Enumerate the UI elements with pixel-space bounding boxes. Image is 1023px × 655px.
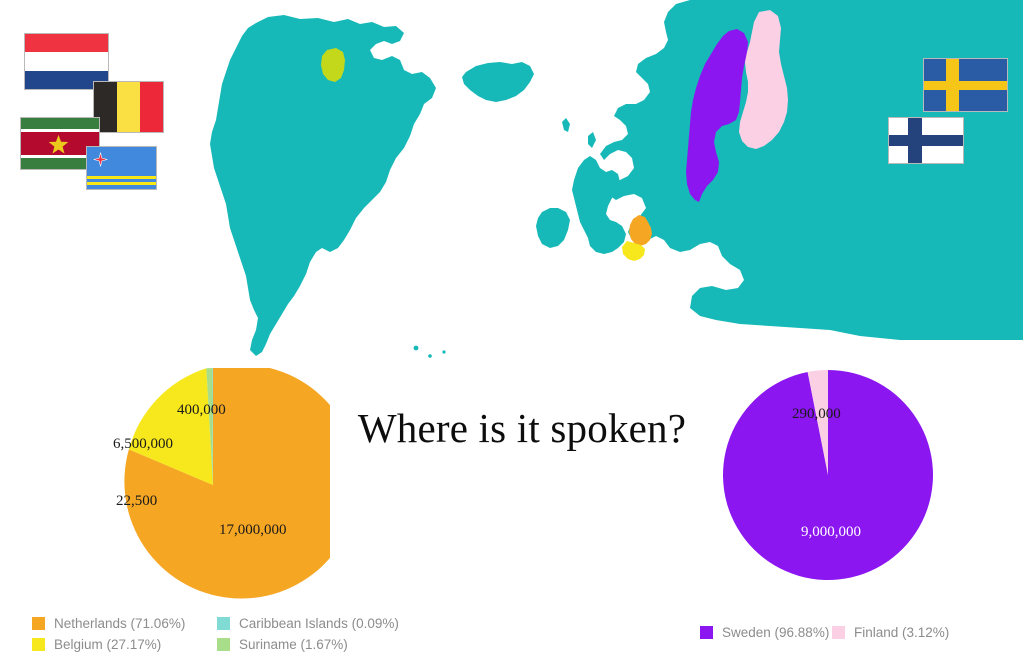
flag-belgium-red-band — [140, 82, 163, 132]
scandinavia-europe-shape — [600, 0, 1023, 340]
swedish-pie-slice-sweden — [723, 370, 933, 580]
flag-finland-blue-horizontal — [889, 135, 963, 146]
iceland-shape — [462, 62, 534, 102]
caribbean-island-dot-2 — [428, 354, 432, 358]
flag-netherlands-red-band — [25, 34, 108, 52]
legend-swatch-sweden-icon — [700, 626, 713, 639]
swedish-legend-row-1: Sweden (96.88%) Finland (3.12%) — [700, 622, 949, 643]
legend-swatch-finland-icon — [832, 626, 845, 639]
legend-swatch-netherlands-icon — [32, 617, 45, 630]
flag-sweden-yellow-vertical — [946, 59, 958, 111]
slide-canvas: Where is it spoken? 400,000 6,500,000 22… — [0, 0, 1023, 655]
dutch-legend-item-caribbean[interactable]: Caribbean Islands (0.09%) — [217, 616, 399, 631]
swedish-legend-label-finland: Finland (3.12%) — [854, 625, 949, 640]
dutch-pie-label-caribbean: 22,500 — [116, 493, 157, 510]
caribbean-island-dot-1 — [414, 346, 419, 351]
legend-swatch-belgium-icon — [32, 638, 45, 651]
flag-sweden — [923, 58, 1008, 112]
flag-belgium — [93, 81, 164, 133]
dutch-legend-label-netherlands: Netherlands (71.06%) — [54, 616, 185, 631]
caribbean-island-dot-3 — [442, 350, 445, 353]
dutch-legend-item-netherlands[interactable]: Netherlands (71.06%) — [32, 616, 217, 631]
flag-aruba-star-icon — [93, 152, 108, 167]
swedish-pie-label-finland: 290,000 — [792, 406, 841, 423]
swedish-pie-chart: 290,000 9,000,000 — [723, 370, 933, 580]
flag-suriname-green-top — [21, 118, 99, 129]
dutch-legend-item-belgium[interactable]: Belgium (27.17%) — [32, 637, 217, 652]
dutch-legend-row-2: Belgium (27.17%) Suriname (1.67%) — [32, 634, 399, 655]
legend-swatch-suriname-icon — [217, 638, 230, 651]
great-britain-shape — [572, 156, 626, 254]
swedish-legend-item-finland[interactable]: Finland (3.12%) — [832, 625, 949, 640]
flag-belgium-yellow-band — [117, 82, 140, 132]
slide-title: Where is it spoken? — [332, 404, 712, 452]
dutch-legend-row-1: Netherlands (71.06%) Caribbean Islands (… — [32, 613, 399, 634]
flag-finland — [888, 117, 964, 164]
flag-finland-blue-vertical — [908, 118, 923, 163]
flag-sweden-yellow-horizontal — [924, 81, 1007, 90]
flag-aruba — [86, 146, 157, 190]
legend-swatch-caribbean-icon — [217, 617, 230, 630]
dutch-pie-chart: 400,000 6,500,000 22,500 17,000,000 — [96, 368, 330, 602]
dutch-legend-label-belgium: Belgium (27.17%) — [54, 637, 161, 652]
world-map — [0, 0, 1023, 400]
dutch-legend-label-suriname: Suriname (1.67%) — [239, 637, 348, 652]
ireland-shape — [536, 208, 570, 248]
swedish-legend: Sweden (96.88%) Finland (3.12%) — [700, 622, 949, 643]
shetland-orkney-shape — [562, 118, 596, 148]
dutch-legend-label-caribbean: Caribbean Islands (0.09%) — [239, 616, 399, 631]
dutch-legend-item-suriname[interactable]: Suriname (1.67%) — [217, 637, 348, 652]
dutch-legend: Netherlands (71.06%) Caribbean Islands (… — [32, 613, 399, 655]
swedish-legend-item-sweden[interactable]: Sweden (96.88%) — [700, 625, 832, 640]
swedish-pie-label-sweden: 9,000,000 — [801, 524, 861, 541]
swedish-pie-svg — [723, 370, 933, 580]
flag-suriname-star-icon — [48, 134, 69, 155]
swedish-legend-label-sweden: Sweden (96.88%) — [722, 625, 829, 640]
flag-aruba-yellow-stripe-2 — [87, 182, 156, 185]
flag-aruba-yellow-stripe-1 — [87, 176, 156, 179]
dutch-pie-label-netherlands: 17,000,000 — [219, 522, 287, 539]
dutch-pie-label-suriname: 400,000 — [177, 402, 226, 419]
dutch-pie-label-belgium: 6,500,000 — [113, 436, 173, 453]
